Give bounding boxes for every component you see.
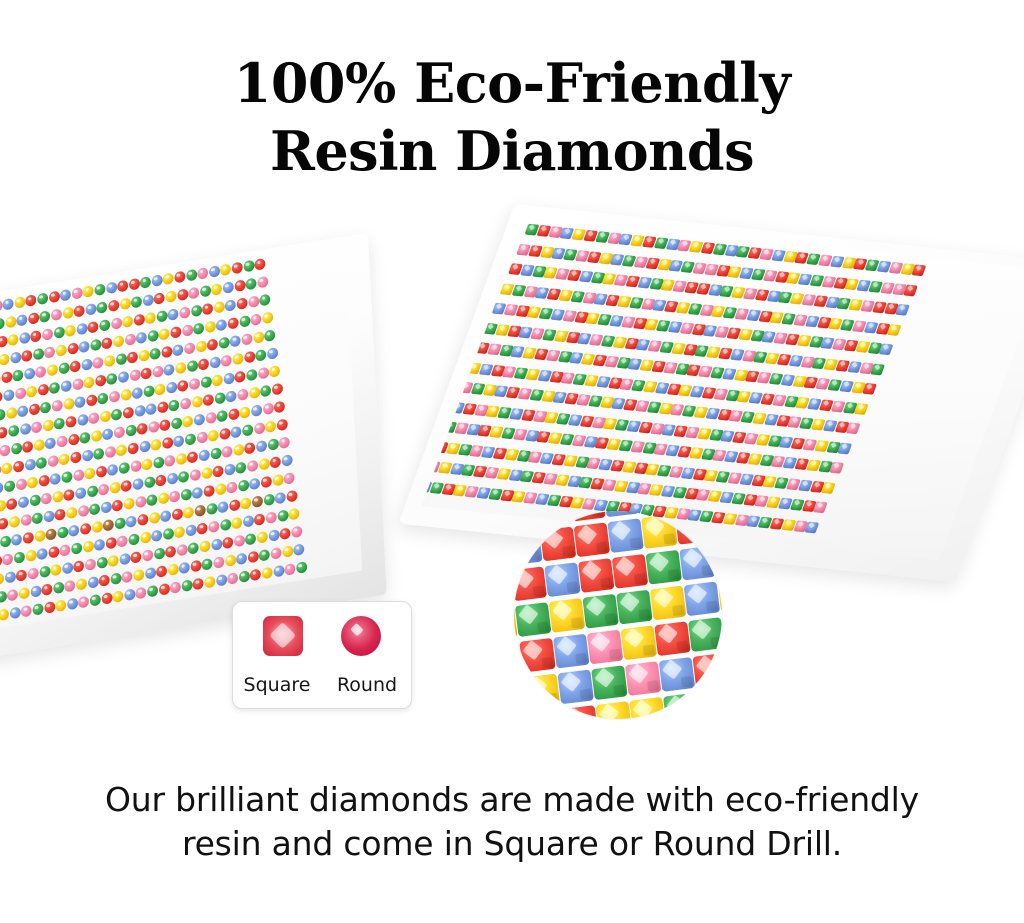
round-drill — [253, 422, 264, 435]
round-drill — [198, 358, 209, 371]
round-drill — [89, 503, 100, 516]
round-drill — [249, 477, 260, 490]
round-drill — [141, 458, 152, 471]
round-drill — [232, 353, 243, 366]
round-drill — [239, 315, 250, 328]
round-drill — [94, 538, 105, 551]
round-drill — [165, 545, 176, 558]
round-drill — [293, 543, 304, 556]
round-drill — [74, 305, 85, 318]
round-drill — [91, 521, 102, 534]
round-drill — [51, 308, 62, 321]
round-drill — [15, 478, 26, 491]
round-drill — [234, 279, 245, 292]
round-drill — [199, 449, 210, 462]
round-drill — [178, 470, 189, 483]
square-drill — [912, 264, 927, 276]
round-drill — [144, 567, 155, 580]
round-drill — [259, 549, 270, 562]
round-drill — [257, 531, 268, 544]
magnified-square-drill — [569, 511, 606, 521]
round-drill — [58, 362, 69, 375]
round-drill — [72, 378, 83, 391]
round-drill — [31, 421, 42, 434]
magnified-square-drill — [578, 558, 615, 593]
round-drill — [94, 283, 105, 296]
magnified-square-drill — [607, 518, 644, 553]
round-drill — [242, 424, 253, 437]
round-drill — [209, 356, 220, 369]
round-drill — [248, 295, 259, 308]
round-drill — [185, 433, 196, 446]
round-drill — [243, 515, 254, 528]
round-drill — [97, 392, 108, 405]
round-drill — [12, 369, 23, 382]
round-drill — [67, 342, 78, 355]
round-drill — [273, 565, 284, 578]
magnified-square-drill — [625, 661, 662, 696]
magnified-square-drill — [637, 511, 674, 513]
magnified-square-drill — [574, 522, 611, 557]
round-drill — [60, 289, 71, 302]
round-drill — [0, 482, 4, 495]
round-drill — [38, 383, 49, 396]
round-drill — [153, 547, 164, 560]
round-drill — [98, 483, 109, 496]
round-drill — [177, 288, 188, 301]
round-drill — [296, 561, 307, 574]
round-drill — [174, 271, 185, 284]
round-drill — [208, 520, 219, 533]
round-drill — [230, 335, 241, 348]
round-drill — [216, 574, 227, 587]
round-drill — [37, 548, 48, 561]
round-drill — [95, 374, 106, 387]
legend-label-row: Square Round — [233, 674, 411, 696]
round-drill — [10, 351, 21, 364]
round-drill — [7, 333, 18, 346]
round-drill — [158, 492, 169, 505]
round-drill — [0, 353, 10, 366]
round-drill — [157, 401, 168, 414]
round-drill — [220, 519, 231, 532]
round-drill — [8, 425, 19, 438]
round-drill — [139, 440, 150, 453]
round-drill — [27, 476, 38, 489]
round-drill — [131, 551, 142, 564]
round-drill — [221, 354, 232, 367]
round-drill — [65, 324, 76, 337]
round-drill — [124, 588, 135, 601]
round-drill — [79, 340, 90, 353]
magnified-square-drill — [679, 546, 716, 581]
round-drill — [226, 390, 237, 403]
round-drill — [133, 569, 144, 582]
round-drill — [113, 335, 124, 348]
round-drill — [270, 547, 281, 560]
round-drill — [257, 276, 268, 289]
round-drill — [211, 538, 222, 551]
round-drill — [153, 456, 164, 469]
round-drill — [66, 506, 77, 519]
round-drill — [274, 401, 285, 414]
square-drill — [879, 343, 894, 355]
round-drill — [143, 385, 154, 398]
round-drill — [28, 567, 39, 580]
round-drill — [4, 480, 15, 493]
round-drill — [250, 568, 261, 581]
round-drill — [102, 428, 113, 441]
round-drill — [244, 351, 255, 364]
round-drill — [132, 387, 143, 400]
round-drill — [19, 332, 30, 345]
round-drill — [20, 514, 31, 527]
round-drill — [87, 485, 98, 498]
round-drill — [121, 480, 132, 493]
round-drill — [6, 498, 17, 511]
round-drill — [9, 516, 20, 529]
round-drill — [237, 388, 248, 401]
round-drill — [117, 535, 128, 548]
round-drill — [243, 260, 254, 273]
round-drill — [179, 561, 190, 574]
magnified-square-drill — [540, 527, 577, 562]
round-drill — [213, 556, 224, 569]
round-drill — [166, 381, 177, 394]
round-drill — [255, 349, 266, 362]
magnifier-drill-rows — [514, 511, 722, 719]
left-tray-bed — [0, 239, 362, 635]
magnified-square-drill — [528, 709, 565, 719]
round-drill — [119, 553, 130, 566]
round-drill — [208, 429, 219, 442]
magnified-square-drill — [697, 689, 722, 719]
round-drill — [226, 481, 237, 494]
square-drill — [871, 363, 886, 375]
round-drill — [105, 537, 116, 550]
round-drill — [104, 355, 115, 368]
round-drill — [192, 486, 203, 499]
round-drill — [256, 440, 267, 453]
round-drill — [260, 385, 271, 398]
round-drill — [147, 330, 158, 343]
round-drill — [29, 494, 40, 507]
round-drill — [267, 347, 278, 360]
round-drill — [216, 319, 227, 332]
magnified-square-drill — [514, 566, 547, 601]
round-drill — [200, 285, 211, 298]
round-drill — [11, 533, 22, 546]
round-drill — [110, 317, 121, 330]
round-drill — [134, 405, 145, 418]
round-drill — [188, 287, 199, 300]
round-drill — [45, 437, 56, 450]
product-marketing-banner: 100% Eco-Friendly Resin Diamonds Square … — [0, 0, 1024, 923]
round-drill — [60, 380, 71, 393]
round-drill — [87, 576, 98, 589]
round-drill — [9, 607, 20, 620]
round-drill — [177, 379, 188, 392]
round-drill — [106, 281, 117, 294]
round-drill — [175, 362, 186, 375]
round-drill — [223, 372, 234, 385]
round-drill — [196, 431, 207, 444]
round-drill — [173, 435, 184, 448]
round-drill — [49, 382, 60, 395]
round-drill — [17, 405, 28, 418]
magnifier-closeup — [514, 511, 722, 719]
round-drill — [190, 469, 201, 482]
round-drill — [86, 394, 97, 407]
round-drill — [132, 478, 143, 491]
round-drill — [21, 605, 32, 618]
round-drill — [214, 301, 225, 314]
round-drill — [67, 597, 78, 610]
round-drill — [223, 281, 234, 294]
round-drill — [206, 503, 217, 516]
round-drill — [165, 290, 176, 303]
round-drill — [0, 591, 7, 604]
round-drill — [114, 517, 125, 530]
square-drill — [904, 284, 919, 296]
round-drill — [108, 299, 119, 312]
round-drill — [82, 540, 93, 553]
round-drill — [156, 565, 167, 578]
round-drill — [176, 453, 187, 466]
round-drill — [167, 563, 178, 576]
round-drill — [231, 426, 242, 439]
round-drill — [182, 415, 193, 428]
round-drill — [29, 403, 40, 416]
round-drill — [108, 555, 119, 568]
round-drill — [227, 572, 238, 585]
caption-line-2: resin and come in Square or Round Drill. — [50, 822, 974, 866]
round-drill — [148, 421, 159, 434]
round-drill — [0, 535, 11, 548]
round-drill — [247, 460, 258, 473]
round-drill — [50, 473, 61, 486]
round-drill — [279, 436, 290, 449]
round-drill — [1, 462, 12, 475]
round-drill — [232, 262, 243, 275]
round-drill — [135, 496, 146, 509]
round-drill — [39, 565, 50, 578]
round-drill — [115, 353, 126, 366]
round-drill — [119, 298, 130, 311]
round-drill — [85, 303, 96, 316]
round-drill — [128, 278, 139, 291]
round-drill — [11, 442, 22, 455]
square-drill — [862, 383, 877, 395]
round-drill — [133, 314, 144, 327]
round-drill — [212, 374, 223, 387]
round-drill — [182, 324, 193, 337]
round-drill — [228, 408, 239, 421]
round-drill — [184, 342, 195, 355]
round-drill — [83, 376, 94, 389]
round-drill — [39, 310, 50, 323]
round-drill — [0, 444, 11, 457]
right-tray-drill-rows — [527, 216, 1024, 270]
round-drill — [25, 549, 36, 562]
round-drill — [181, 488, 192, 501]
round-drill — [44, 346, 55, 359]
round-drill — [147, 585, 158, 598]
round-drill — [52, 490, 63, 503]
round-drill — [262, 311, 273, 324]
round-drill — [145, 403, 156, 416]
round-drill — [6, 407, 17, 420]
right-tray-bed — [422, 216, 1024, 561]
round-drill — [220, 263, 231, 276]
round-drill — [62, 307, 73, 320]
round-drill — [123, 497, 134, 510]
round-drill — [61, 471, 72, 484]
round-drill — [218, 337, 229, 350]
round-drill — [172, 508, 183, 521]
round-drill — [253, 331, 264, 344]
round-drill — [235, 370, 246, 383]
round-drill — [1, 371, 12, 384]
round-drill — [203, 394, 214, 407]
round-drill — [140, 531, 151, 544]
round-drill — [93, 447, 104, 460]
round-drill — [36, 457, 47, 470]
round-drill — [170, 581, 181, 594]
round-drill — [163, 272, 174, 285]
round-drill — [169, 490, 180, 503]
round-drill — [250, 313, 261, 326]
round-drill — [43, 510, 54, 523]
round-drill — [245, 533, 256, 546]
round-drill — [284, 563, 295, 576]
round-drill — [56, 344, 67, 357]
round-drill — [103, 519, 114, 532]
round-drill — [110, 572, 121, 585]
round-drill — [78, 596, 89, 609]
round-drill — [5, 316, 16, 329]
round-drill — [258, 458, 269, 471]
round-drill — [251, 404, 262, 417]
round-drill — [129, 369, 140, 382]
round-drill — [187, 451, 198, 464]
round-drill — [54, 417, 65, 430]
round-drill — [16, 314, 27, 327]
round-drill — [173, 344, 184, 357]
round-drill — [225, 554, 236, 567]
round-drill — [127, 442, 138, 455]
round-drill — [48, 546, 59, 559]
round-drill — [0, 426, 8, 439]
round-drill — [266, 511, 277, 524]
round-drill — [244, 442, 255, 455]
round-drill — [154, 292, 165, 305]
round-drill — [0, 517, 9, 530]
square-drill — [805, 521, 820, 533]
round-drill — [118, 462, 129, 475]
round-drill — [142, 294, 153, 307]
round-drill — [162, 437, 173, 450]
round-drill — [5, 571, 16, 584]
round-drill — [117, 280, 128, 293]
round-drill — [24, 367, 35, 380]
round-drill — [56, 435, 67, 448]
round-drill — [149, 512, 160, 525]
round-drill — [183, 506, 194, 519]
round-drill — [181, 579, 192, 592]
headline-line-2: Resin Diamonds — [0, 120, 1024, 182]
square-drill — [838, 442, 853, 454]
round-drill — [200, 376, 211, 389]
round-drill — [168, 399, 179, 412]
round-drill — [186, 360, 197, 373]
round-drill — [258, 367, 269, 380]
round-drill — [20, 423, 31, 436]
round-drill — [88, 412, 99, 425]
round-drill — [275, 492, 286, 505]
round-drill — [3, 389, 14, 402]
round-drill — [265, 420, 276, 433]
round-drill — [137, 513, 148, 526]
round-drill — [99, 574, 110, 587]
round-drill — [246, 369, 257, 382]
round-drill — [155, 383, 166, 396]
round-drill — [262, 402, 273, 415]
round-drill — [109, 390, 120, 403]
round-drill — [32, 512, 43, 525]
round-drill — [96, 465, 107, 478]
round-drill — [99, 319, 110, 332]
round-drill — [191, 304, 202, 317]
round-drill — [96, 556, 107, 569]
round-drill — [73, 560, 84, 573]
round-drill — [224, 463, 235, 476]
round-drill — [291, 526, 302, 539]
magnified-square-drill — [514, 531, 543, 566]
magnified-square-drill — [650, 586, 687, 621]
round-drill — [91, 430, 102, 443]
round-drill — [138, 349, 149, 362]
round-drill — [249, 386, 260, 399]
round-drill — [33, 439, 44, 452]
round-drill — [71, 287, 82, 300]
round-drill — [235, 461, 246, 474]
round-drill — [158, 583, 169, 596]
round-drill — [254, 258, 265, 271]
round-drill — [30, 585, 41, 598]
round-drill — [222, 536, 233, 549]
round-drill — [0, 408, 6, 421]
round-drill — [240, 497, 251, 510]
round-drill — [76, 323, 87, 336]
round-drill — [159, 419, 170, 432]
round-drill — [101, 337, 112, 350]
round-drill — [59, 544, 70, 557]
round-drill — [71, 542, 82, 555]
magnified-square-drill — [616, 590, 653, 625]
round-drill — [59, 453, 70, 466]
magnified-square-drill — [675, 511, 712, 545]
round-drill — [195, 340, 206, 353]
magnified-square-drill — [544, 562, 581, 597]
round-drill — [190, 560, 201, 573]
headline-line-1: 100% Eco-Friendly — [0, 52, 1024, 114]
round-drill — [135, 587, 146, 600]
round-drill — [263, 493, 274, 506]
round-drill — [150, 438, 161, 451]
round-drill — [35, 366, 46, 379]
caption-line-1: Our brilliant diamonds are made with eco… — [50, 778, 974, 822]
